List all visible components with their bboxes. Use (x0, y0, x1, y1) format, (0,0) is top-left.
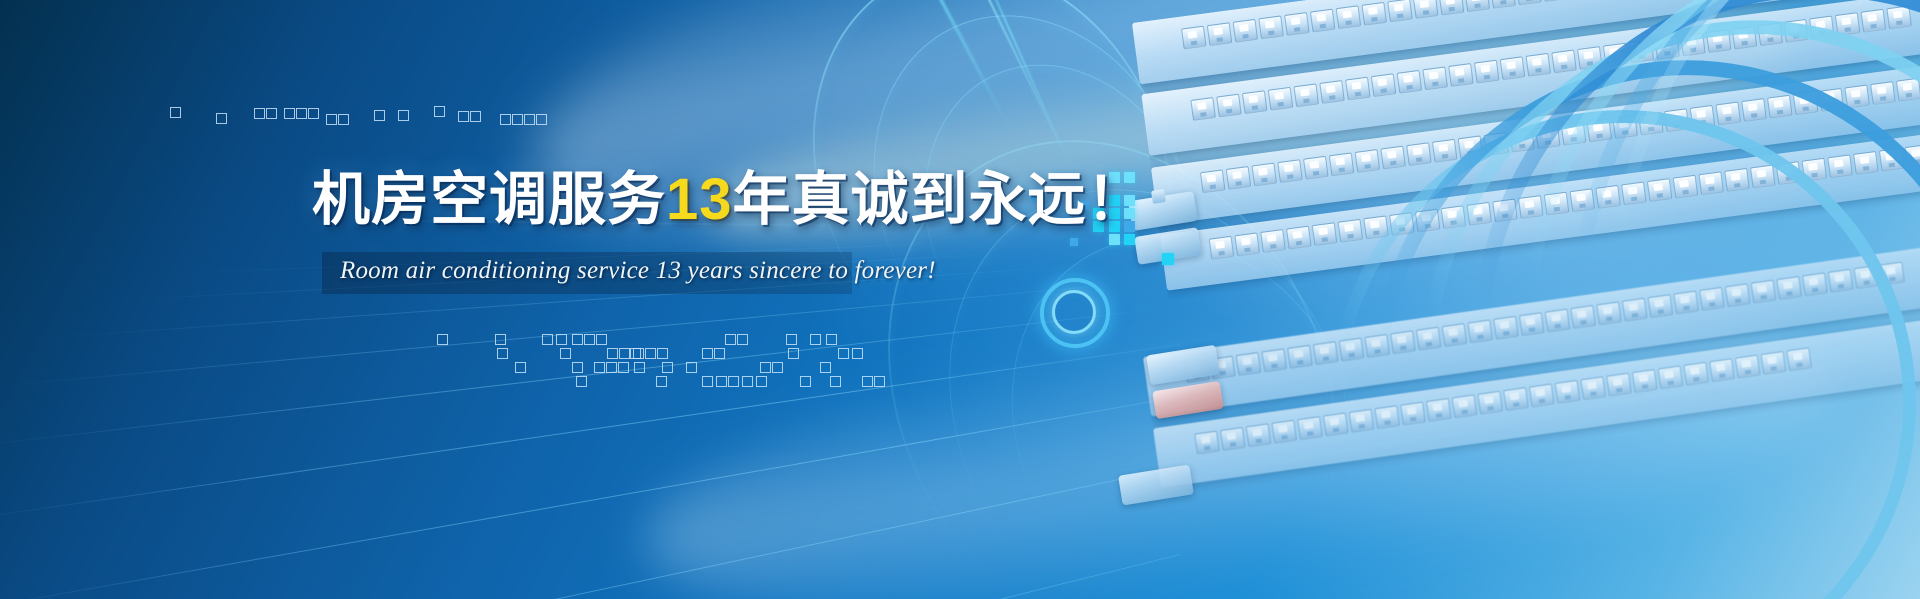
headline-text-before: 机房空调服务 (312, 167, 666, 232)
banner-content: 机房空调服务13年真诚到永远！ Room air conditioning se… (0, 0, 1920, 599)
banner-subtitle: Room air conditioning service 13 years s… (340, 257, 936, 285)
hero-banner: 机房空调服务13年真诚到永远！ Room air conditioning se… (0, 0, 1920, 599)
headline-text-after: 年真诚到永远！ (733, 167, 1146, 232)
banner-headline: 机房空调服务13年真诚到永远！ (312, 167, 1146, 234)
headline-highlight-number: 13 (666, 167, 733, 232)
